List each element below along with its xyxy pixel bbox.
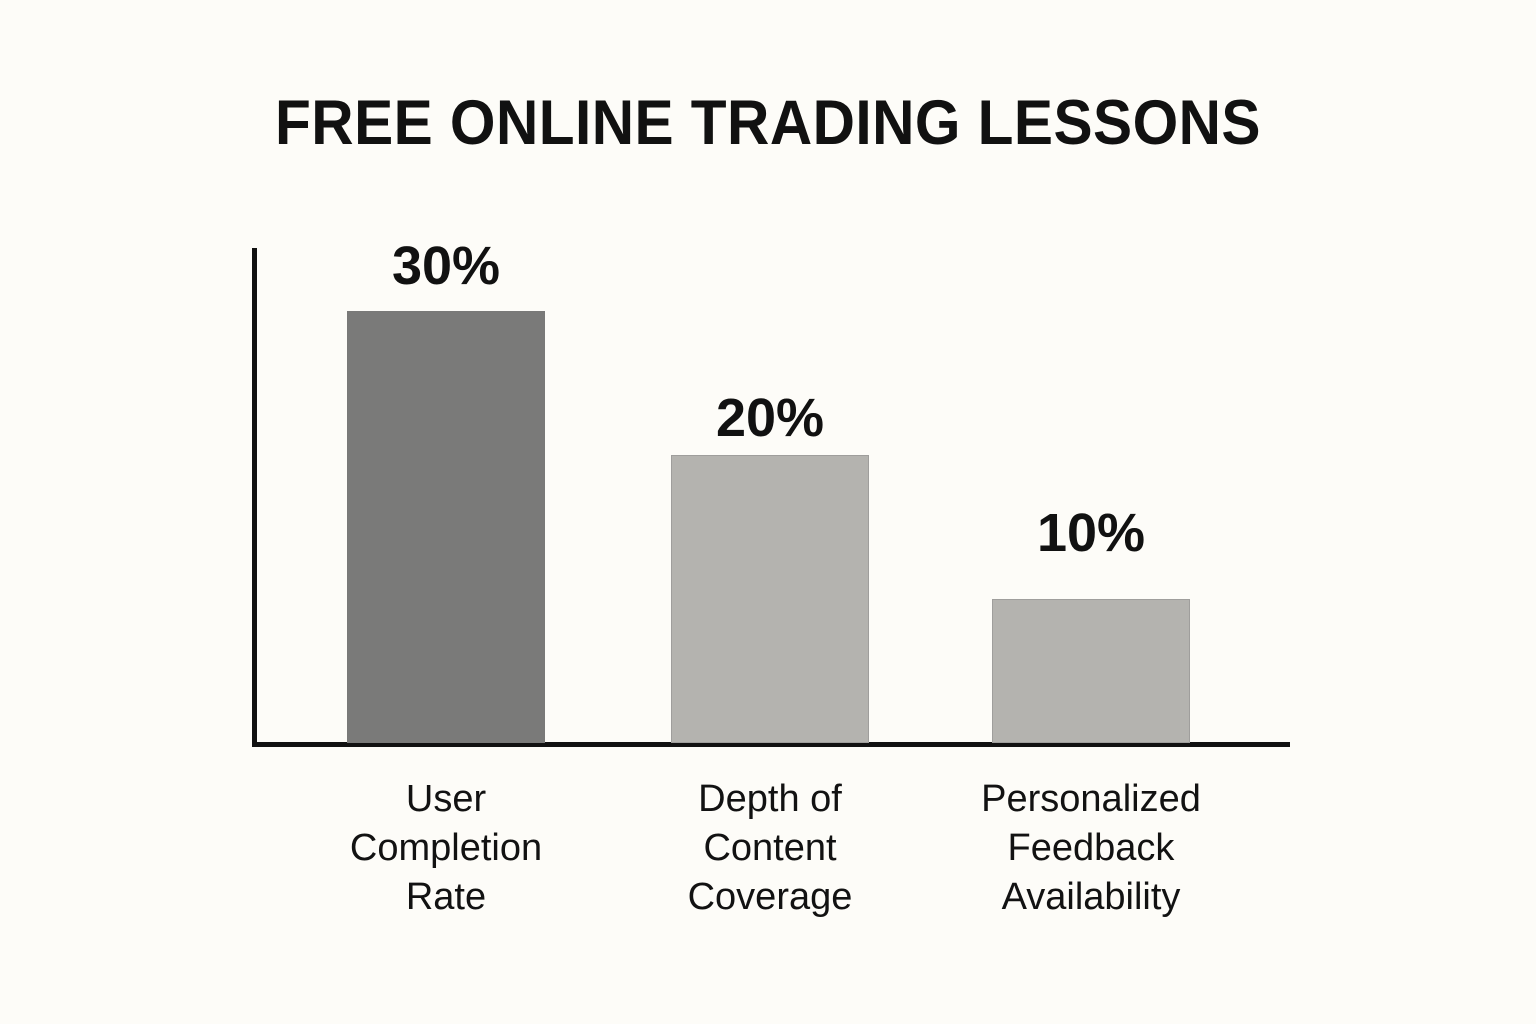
category-label-2: Personalized Feedback Availability <box>921 775 1261 922</box>
chart-title: FREE ONLINE TRADING LESSONS <box>54 88 1482 158</box>
y-axis-line <box>252 248 257 745</box>
category-label-0: User Completion Rate <box>276 775 616 922</box>
bar-depth-of-content-coverage[interactable] <box>671 455 869 743</box>
bar-value-label-1: 20% <box>640 389 900 447</box>
bar-value-label-2: 10% <box>961 504 1221 562</box>
chart-canvas: FREE ONLINE TRADING LESSONS 30% 20% 10% … <box>0 0 1536 1024</box>
bar-value-label-0: 30% <box>316 237 576 295</box>
bar-user-completion-rate[interactable] <box>347 311 545 743</box>
category-label-1: Depth of Content Coverage <box>600 775 940 922</box>
bar-personalized-feedback-availability[interactable] <box>992 599 1190 743</box>
plot-area: 30% 20% 10% <box>252 248 1290 748</box>
